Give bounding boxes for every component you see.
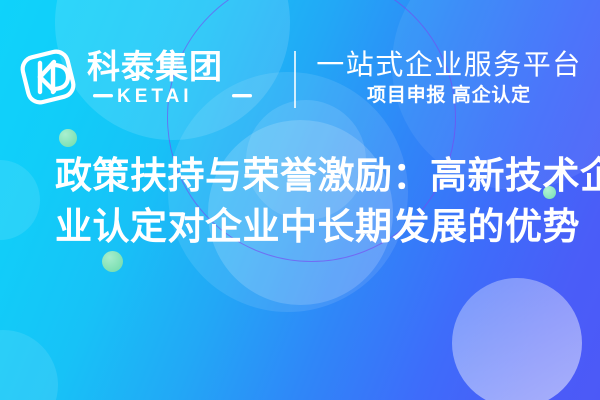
tagline-block: 一站式企业服务平台 项目申报 高企认定 — [316, 50, 582, 108]
headline-line-1: 政策扶持与荣誉激励：高新技术企 — [55, 150, 545, 201]
tagline-sub: 项目申报 高企认定 — [367, 84, 531, 108]
decorative-circle-bottom-right — [452, 278, 582, 400]
brand-name-en-text: KETAI — [117, 86, 193, 107]
banner-header: 科泰集团 KETAI 一站式企业服务平台 项目申报 高企认定 — [0, 38, 600, 120]
header-divider — [294, 51, 296, 108]
brand-wordmark: 科泰集团 KETAI — [87, 46, 272, 113]
wordmark-dash-right — [232, 94, 252, 97]
decorative-circle-bottom-left — [0, 330, 58, 400]
brand-name-cn-text: 科泰集团 — [87, 48, 223, 85]
ketai-diamond-monogram-icon — [18, 46, 78, 113]
headline-line-2: 业认定对企业中长期发展的优势 — [55, 201, 545, 252]
brand-logo[interactable]: 科泰集团 KETAI — [18, 46, 272, 113]
wordmark-dash-left — [93, 94, 113, 97]
promo-banner: 科泰集团 KETAI 一站式企业服务平台 项目申报 高企认定 政策扶持与荣誉激励… — [0, 0, 600, 400]
accent-dot-green-upper-left — [59, 129, 77, 147]
tagline-main: 一站式企业服务平台 — [316, 50, 582, 81]
headline-block: 政策扶持与荣誉激励：高新技术企 业认定对企业中长期发展的优势 — [0, 150, 600, 252]
accent-dot-green-lower-left — [102, 251, 123, 272]
